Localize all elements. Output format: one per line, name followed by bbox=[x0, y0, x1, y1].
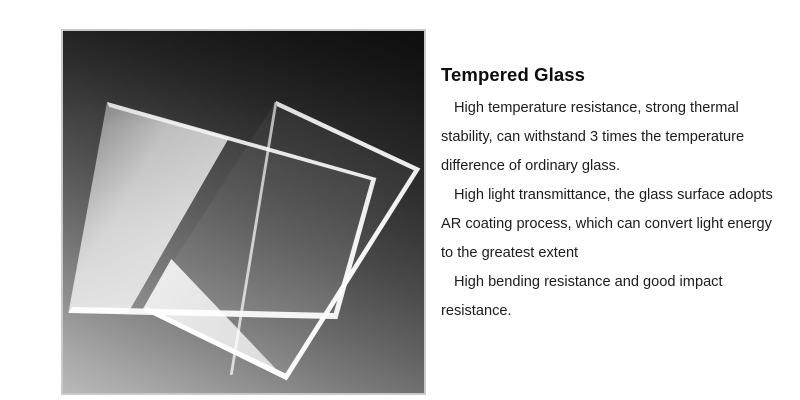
product-title: Tempered Glass bbox=[441, 62, 786, 88]
product-photo bbox=[61, 29, 426, 395]
product-description: Tempered Glass High temperature resistan… bbox=[441, 62, 786, 326]
photo-stage bbox=[63, 31, 424, 393]
feature-paragraph-bending: High bending resistance and good impact … bbox=[441, 268, 786, 326]
feature-paragraph-transmittance: High light transmittance, the glass surf… bbox=[441, 181, 786, 268]
feature-paragraph-thermal: High temperature resistance, strong ther… bbox=[441, 94, 786, 181]
photo-vignette bbox=[63, 31, 424, 393]
